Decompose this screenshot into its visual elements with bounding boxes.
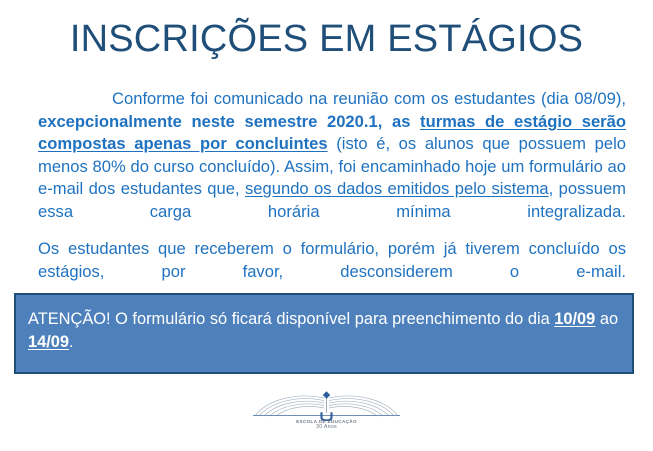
footer-logo: ESCOLA DE EDUCAÇÃO 30 Anos: [245, 389, 408, 439]
open-book-icon: [245, 389, 408, 421]
para-1-run-0: Conforme foi comunicado na reunião com o…: [112, 89, 626, 108]
attention-text-run-0: ATENÇÃO! O formulário só ficará disponív…: [28, 310, 554, 328]
slide-canvas: INSCRIÇÕES EM ESTÁGIOS Conforme foi comu…: [0, 0, 653, 451]
logo-caption-line-2: 30 Anos: [245, 425, 408, 431]
attention-text-run-1: 10/09: [554, 310, 595, 328]
attention-text-run-4: .: [69, 333, 74, 351]
logo-caption: ESCOLA DE EDUCAÇÃO 30 Anos: [245, 419, 408, 430]
attention-text-run-3: 14/09: [28, 333, 69, 351]
para-2-run-0: Os estudantes que receberem o formulário…: [38, 239, 626, 281]
attention-text-justify-tail: [28, 355, 620, 373]
page-title: INSCRIÇÕES EM ESTÁGIOS: [0, 16, 653, 62]
attention-callout-box: ATENÇÃO! O formulário só ficará disponív…: [14, 293, 634, 374]
para-1-run-1: excepcionalmente neste semestre 2020.1, …: [38, 112, 420, 131]
para-1-run-4: segundo os dados emitidos pelo sistema: [245, 179, 549, 198]
attention-text-run-2: ao: [595, 310, 618, 328]
attention-callout-text: ATENÇÃO! O formulário só ficará disponív…: [28, 308, 620, 376]
body-paragraph-1: Conforme foi comunicado na reunião com o…: [38, 88, 626, 246]
